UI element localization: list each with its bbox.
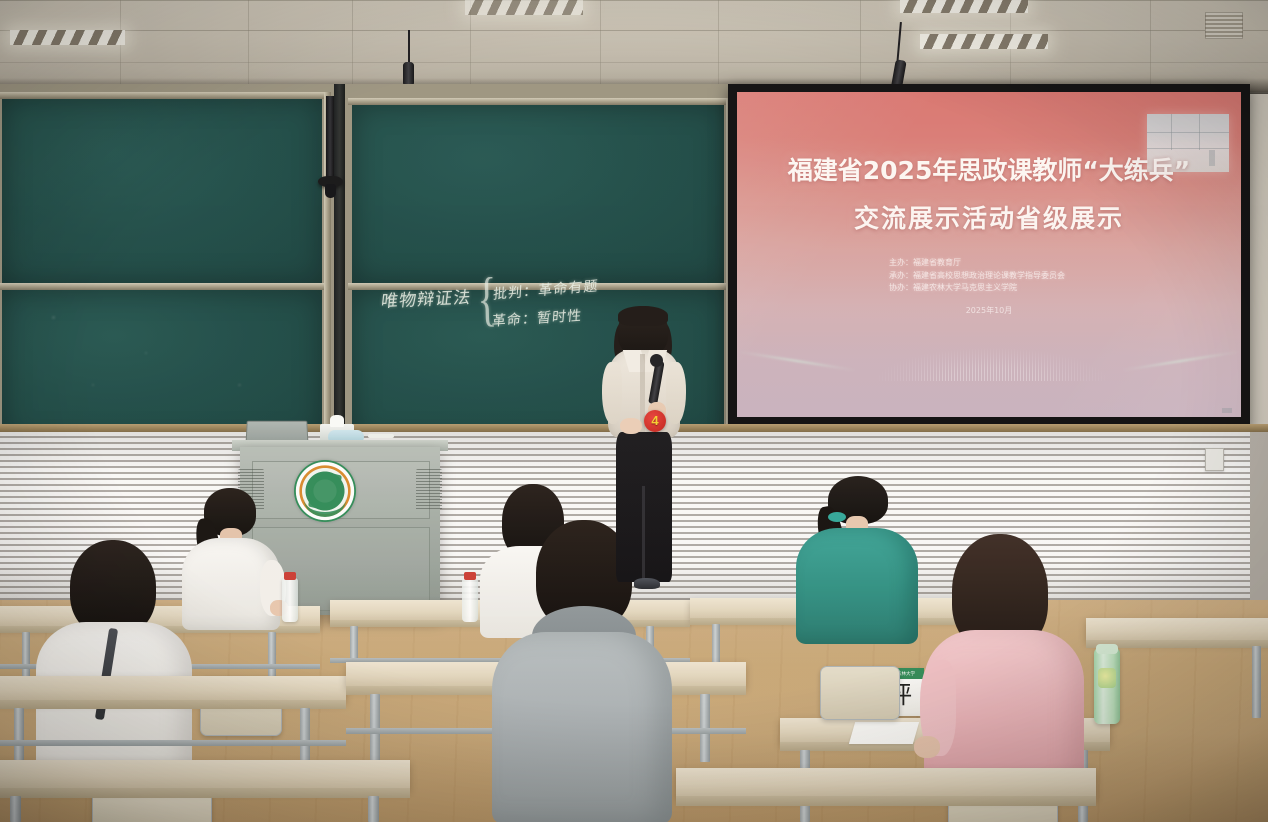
- thermos-sticker: [1098, 668, 1116, 688]
- camera-mount-pole: [326, 96, 334, 180]
- ceiling-light-panel: [10, 30, 125, 45]
- podium-speaker-right: [416, 469, 442, 511]
- camera-lens-icon: [325, 184, 336, 198]
- fafu-university-seal: [294, 460, 356, 522]
- hand-left: [620, 418, 642, 434]
- person-student-white-left-back: [178, 488, 283, 628]
- ceiling-light-panel: [465, 0, 583, 15]
- shoe: [634, 578, 660, 589]
- desk-row-frontmost-right: [676, 768, 1096, 798]
- blackboard-panel: [2, 290, 322, 442]
- arm-right: [666, 362, 686, 424]
- person-student-white-left-front: [36, 540, 191, 770]
- ceiling-light-panel: [900, 0, 1028, 13]
- chair[interactable]: [820, 666, 900, 720]
- desk-right-far: [1086, 618, 1268, 642]
- desk-row-frontmost-left: [0, 760, 410, 790]
- projection-screen: 福建省2025年思政课教师“大练兵” 交流展示活动省级展示 主办：福建省教育厅 …: [737, 92, 1241, 417]
- microphone-head-icon: [650, 354, 663, 367]
- hair-tie: [828, 512, 846, 522]
- classroom-photo: 唯物辩证法 { 批判：革命有题 革命：暂时性 福建省2025年思政课教师“大练兵…: [0, 0, 1268, 822]
- wall-light-switch[interactable]: [1205, 448, 1224, 471]
- person-attendee-pink: [924, 534, 1084, 784]
- bottle-cap: [464, 572, 476, 580]
- water-bottle: [462, 578, 478, 622]
- blackboard-panel: [2, 98, 322, 284]
- tissue-sheet: [330, 415, 344, 427]
- person-attendee-teal: [792, 476, 922, 646]
- paper-sheet: [849, 722, 919, 744]
- trouser-seam: [642, 486, 645, 582]
- contestant-number-badge: 4: [644, 410, 666, 432]
- thermos-lid: [1096, 644, 1118, 654]
- screen-glare: [737, 92, 1241, 417]
- blackboard-panel: [352, 104, 724, 284]
- presenter-teacher: 4: [592, 306, 696, 606]
- blackboard-divider: [334, 84, 345, 446]
- desk-row-front-left: [0, 676, 346, 702]
- bottle-cap: [284, 572, 296, 580]
- hand: [914, 736, 940, 758]
- hanging-cable: [408, 30, 410, 64]
- hair-fringe: [618, 306, 668, 326]
- water-bottle: [282, 578, 298, 622]
- torso: [796, 528, 918, 644]
- arm-left: [602, 362, 622, 424]
- torso: [492, 632, 672, 822]
- screen-brand-logo: [1222, 408, 1232, 413]
- ceiling-vent-icon: [1205, 12, 1243, 39]
- badge-number: 4: [644, 410, 666, 432]
- ceiling-light-panel: [920, 34, 1048, 49]
- marker-pen: [368, 434, 394, 438]
- wall-right-edge: [1250, 432, 1268, 617]
